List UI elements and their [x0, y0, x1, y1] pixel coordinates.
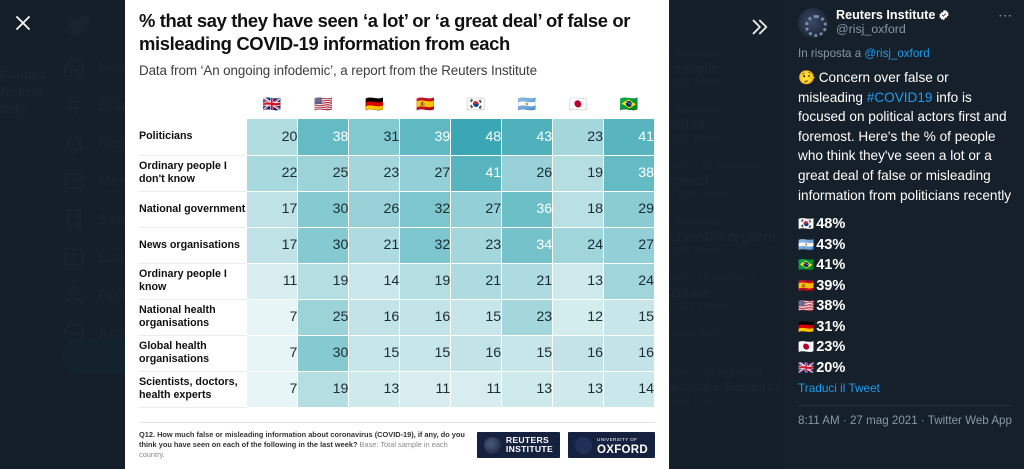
heatmap-cell: 14	[604, 371, 655, 407]
infographic: % that say they have seen ‘a lot’ or ‘a …	[125, 0, 669, 469]
heatmap-cell: 25	[298, 155, 349, 191]
heatmap-cell: 30	[298, 227, 349, 263]
row-label: News organisations	[139, 227, 247, 263]
heatmap-cell: 16	[553, 335, 604, 371]
row-label: Ordinary people I know	[139, 263, 247, 299]
heatmap-cell: 43	[502, 119, 553, 155]
heatmap-cell: 15	[502, 335, 553, 371]
country-stat-row: 🇯🇵23%	[798, 337, 1012, 358]
heatmap-cell: 19	[298, 371, 349, 407]
flag-icon-south-korea: 🇰🇷	[467, 97, 486, 112]
heatmap-cell: 11	[247, 263, 298, 299]
heatmap-cell: 26	[349, 191, 400, 227]
table-row: National health organisations72516161523…	[139, 299, 655, 335]
heatmap-cell: 15	[349, 335, 400, 371]
stat-value: 23%	[816, 337, 845, 358]
row-label: Ordinary people I don't know	[139, 155, 247, 191]
heatmap-cell: 16	[604, 335, 655, 371]
flag-icon: 🇩🇪	[798, 317, 814, 338]
heatmap-cell: 29	[604, 191, 655, 227]
tweet-timestamp: 8:11 AM · 27 mag 2021 · Twitter Web App	[798, 405, 1012, 427]
heatmap-cell: 15	[451, 299, 502, 335]
reuters-institute-logo: REUTERS INSTITUTE	[477, 432, 560, 458]
heatmap-header-row: 🇬🇧🇺🇸🇩🇪🇪🇸🇰🇷🇦🇷🇯🇵🇧🇷	[139, 89, 655, 119]
table-row: News organisations1730213223342427	[139, 227, 655, 263]
reuters-logo-mark	[484, 437, 501, 454]
table-row: Global health organisations7301515161516…	[139, 335, 655, 371]
oxford-logo-line2: OXFORD	[597, 444, 648, 456]
heatmap-cell: 23	[451, 227, 502, 263]
tweet-text-part2: info is focused on political actors firs…	[798, 90, 1011, 203]
flag-icon: 🇬🇧	[798, 358, 814, 379]
heatmap-cell: 30	[298, 335, 349, 371]
media-image[interactable]: % that say they have seen ‘a lot’ or ‘a …	[125, 0, 669, 469]
reply-to-handle[interactable]: @risj_oxford	[864, 47, 929, 60]
author-display-name[interactable]: Reuters Institute	[836, 8, 935, 22]
infographic-footer: Q12. How much false or misleading inform…	[139, 422, 655, 469]
table-row: Ordinary people I don't know222523274126…	[139, 155, 655, 191]
heatmap-cell: 48	[451, 119, 502, 155]
table-row: Politicians2038313948432341	[139, 119, 655, 155]
heatmap-cell: 23	[502, 299, 553, 335]
heatmap-cell: 14	[349, 263, 400, 299]
flag-icon-brazil: 🇧🇷	[620, 97, 639, 112]
heatmap-cell: 15	[400, 335, 451, 371]
heatmap-cell: 12	[553, 299, 604, 335]
next-media-chevron-icon[interactable]	[742, 10, 776, 44]
heatmap-cell: 25	[298, 299, 349, 335]
country-stat-row: 🇩🇪31%	[798, 317, 1012, 338]
heatmap-corner-cell	[139, 89, 247, 119]
country-stat-row: 🇰🇷48%	[798, 214, 1012, 235]
row-label: Politicians	[139, 119, 247, 155]
tweet-text: 🤥 Concern over false or misleading #COVI…	[798, 68, 1012, 205]
country-stat-row: 🇺🇸38%	[798, 296, 1012, 317]
column-header-uk: 🇬🇧	[247, 89, 298, 119]
flag-icon: 🇦🇷	[798, 235, 814, 256]
heatmap-table: 🇬🇧🇺🇸🇩🇪🇪🇸🇰🇷🇦🇷🇯🇵🇧🇷 Politicians203831394843…	[139, 89, 655, 408]
flag-icon-argentina: 🇦🇷	[518, 97, 537, 112]
avatar[interactable]	[798, 8, 828, 38]
heatmap-cell: 36	[502, 191, 553, 227]
row-label: National government	[139, 191, 247, 227]
flag-icon-japan: 🇯🇵	[569, 97, 588, 112]
heatmap-cell: 13	[553, 263, 604, 299]
country-stat-row: 🇬🇧20%	[798, 358, 1012, 379]
heatmap-cell: 32	[400, 227, 451, 263]
heatmap-cell: 11	[400, 371, 451, 407]
verified-badge-icon	[938, 9, 950, 21]
heatmap-cell: 21	[349, 227, 400, 263]
flag-icon-germany: 🇩🇪	[365, 97, 384, 112]
column-header-japan: 🇯🇵	[553, 89, 604, 119]
heatmap-cell: 38	[604, 155, 655, 191]
heatmap-cell: 7	[247, 335, 298, 371]
column-header-usa: 🇺🇸	[298, 89, 349, 119]
heatmap-cell: 24	[553, 227, 604, 263]
flag-icon-spain: 🇪🇸	[416, 97, 435, 112]
heatmap-cell: 18	[553, 191, 604, 227]
heatmap-cell: 34	[502, 227, 553, 263]
heatmap-cell: 7	[247, 371, 298, 407]
heatmap-cell: 19	[400, 263, 451, 299]
stat-value: 31%	[816, 317, 845, 338]
row-label: Global health organisations	[139, 335, 247, 371]
row-label: Scientists, doctors, health experts	[139, 371, 247, 407]
tweet-emoji: 🤥	[798, 70, 815, 85]
heatmap-cell: 27	[604, 227, 655, 263]
flag-icon-uk: 🇬🇧	[263, 97, 282, 112]
heatmap-cell: 11	[451, 371, 502, 407]
tweet-author-header: Reuters Institute @risj_oxford ⋯	[798, 8, 1012, 38]
column-header-brazil: 🇧🇷	[604, 89, 655, 119]
infographic-subtitle: Data from ‘An ongoing infodemic’, a repo…	[139, 62, 655, 79]
heatmap-cell: 22	[247, 155, 298, 191]
heatmap-cell: 41	[451, 155, 502, 191]
stat-value: 43%	[816, 235, 845, 256]
flag-icon-usa: 🇺🇸	[314, 97, 333, 112]
reply-prefix: In risposta a	[798, 47, 864, 60]
heatmap-cell: 16	[400, 299, 451, 335]
stat-value: 41%	[816, 255, 845, 276]
heatmap-cell: 32	[400, 191, 451, 227]
heatmap-cell: 24	[604, 263, 655, 299]
heatmap-cell: 13	[553, 371, 604, 407]
heatmap-cell: 41	[604, 119, 655, 155]
heatmap-cell: 13	[502, 371, 553, 407]
country-stats-list: 🇰🇷48%🇦🇷43%🇧🇷41%🇪🇸39%🇺🇸38%🇩🇪31%🇯🇵23%🇬🇧20%	[798, 214, 1012, 378]
twitter-media-lightbox: HomeEsploraNotificheMessaggiSegnalibriLi…	[0, 0, 1024, 469]
close-button[interactable]	[7, 7, 39, 39]
tweet-detail-panel: Reuters Institute @risj_oxford ⋯ In risp…	[785, 0, 1024, 469]
infographic-title: % that say they have seen ‘a lot’ or ‘a …	[139, 9, 655, 55]
flag-icon: 🇪🇸	[798, 276, 814, 297]
heatmap-cell: 27	[451, 191, 502, 227]
heatmap-cell: 26	[502, 155, 553, 191]
flag-icon: 🇺🇸	[798, 296, 814, 317]
country-stat-row: 🇪🇸39%	[798, 276, 1012, 297]
table-row: Ordinary people I know1119141921211324	[139, 263, 655, 299]
stat-value: 39%	[816, 276, 845, 297]
country-stat-row: 🇧🇷41%	[798, 255, 1012, 276]
oxford-logo-line1: UNIVERSITY OF	[597, 435, 648, 444]
flag-icon: 🇰🇷	[798, 214, 814, 235]
heatmap-cell: 17	[247, 191, 298, 227]
heatmap-cell: 27	[400, 155, 451, 191]
heatmap-cell: 13	[349, 371, 400, 407]
column-header-spain: 🇪🇸	[400, 89, 451, 119]
oxford-logo: UNIVERSITY OF OXFORD	[568, 432, 655, 458]
heatmap-cell: 39	[400, 119, 451, 155]
heatmap-cell: 21	[502, 263, 553, 299]
column-header-argentina: 🇦🇷	[502, 89, 553, 119]
flag-icon: 🇧🇷	[798, 255, 814, 276]
reply-context: In risposta a @risj_oxford	[798, 47, 1012, 60]
heatmap-cell: 16	[349, 299, 400, 335]
country-stat-row: 🇦🇷43%	[798, 235, 1012, 256]
stat-value: 48%	[816, 214, 845, 235]
footnote: Q12. How much false or misleading inform…	[139, 430, 469, 460]
column-header-south-korea: 🇰🇷	[451, 89, 502, 119]
heatmap-cell: 21	[451, 263, 502, 299]
tweet-hashtag[interactable]: #COVID19	[867, 90, 933, 105]
row-label: National health organisations	[139, 299, 247, 335]
heatmap-cell: 38	[298, 119, 349, 155]
stat-value: 20%	[816, 358, 845, 379]
heatmap-cell: 23	[349, 155, 400, 191]
stat-value: 38%	[816, 296, 845, 317]
heatmap-cell: 16	[451, 335, 502, 371]
reuters-logo-line2: INSTITUTE	[506, 445, 553, 454]
heatmap-cell: 19	[298, 263, 349, 299]
heatmap-cell: 30	[298, 191, 349, 227]
heatmap-cell: 15	[604, 299, 655, 335]
flag-icon: 🇯🇵	[798, 337, 814, 358]
more-options-icon[interactable]: ⋯	[998, 8, 1012, 20]
author-handle[interactable]: @risj_oxford	[836, 22, 990, 36]
heatmap-cell: 20	[247, 119, 298, 155]
table-row: National government1730263227361829	[139, 191, 655, 227]
oxford-crest-icon	[575, 437, 592, 454]
heatmap-cell: 23	[553, 119, 604, 155]
translate-tweet-link[interactable]: Traduci il Tweet	[798, 381, 1012, 395]
heatmap-cell: 19	[553, 155, 604, 191]
heatmap-cell: 17	[247, 227, 298, 263]
table-row: Scientists, doctors, health experts71913…	[139, 371, 655, 407]
heatmap-cell: 31	[349, 119, 400, 155]
heatmap-cell: 7	[247, 299, 298, 335]
column-header-germany: 🇩🇪	[349, 89, 400, 119]
